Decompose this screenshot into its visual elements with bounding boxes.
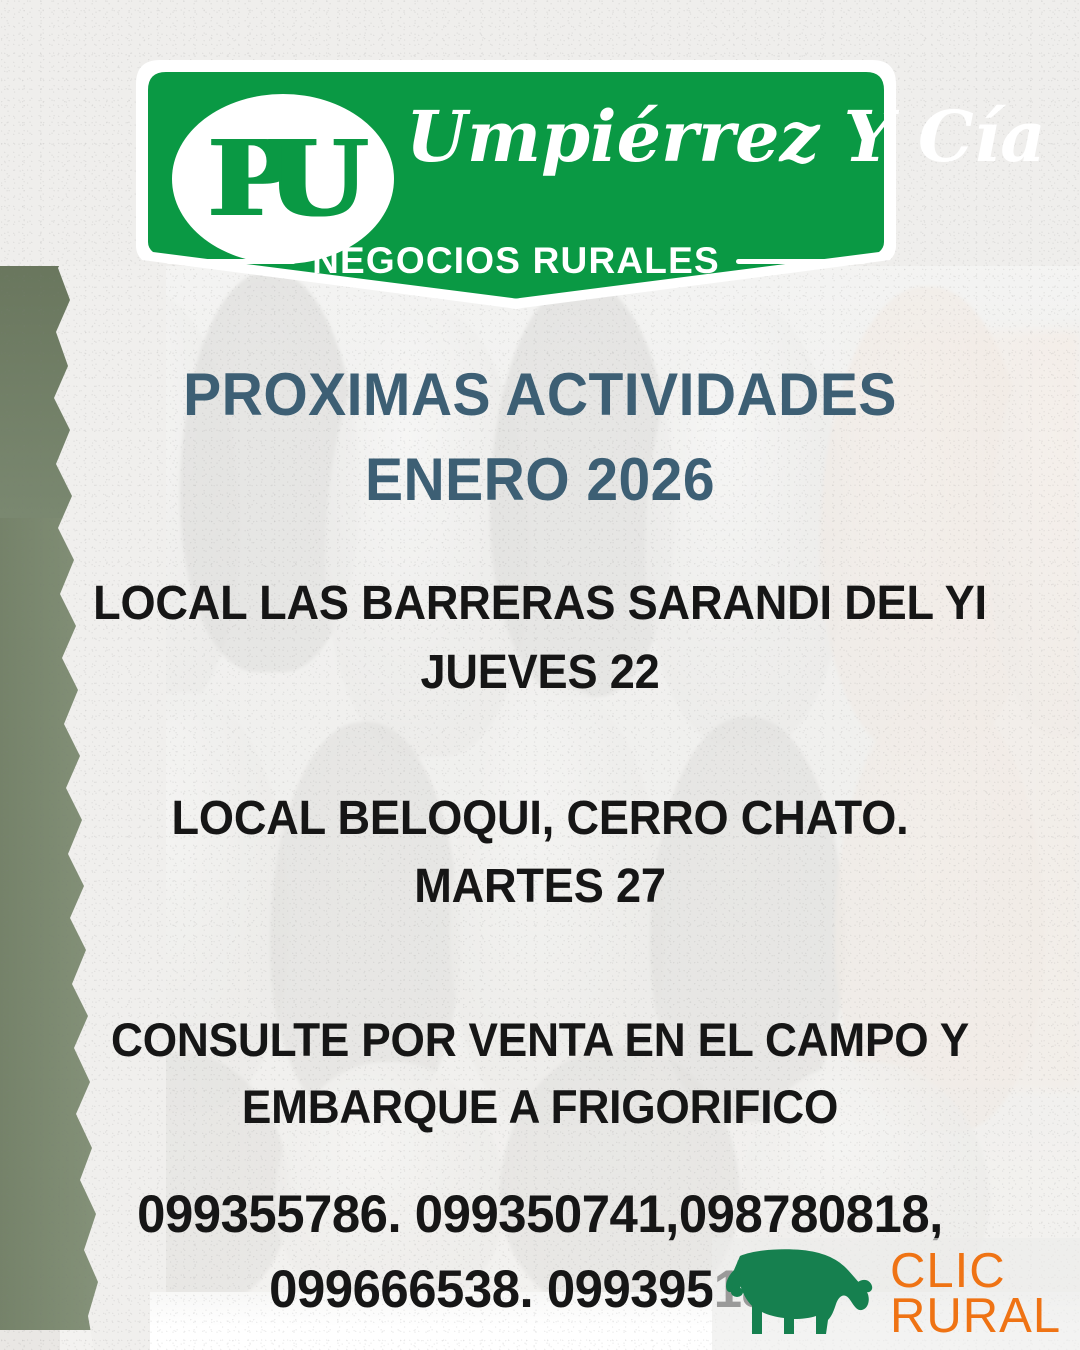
poster-content: PROXIMAS ACTIVIDADES ENERO 2026 LOCAL LA…	[0, 352, 1080, 1327]
clic-rural-watermark: CLIC RURAL	[712, 1238, 1080, 1350]
event-2-location: LOCAL BELOQUI, CERRO CHATO.	[55, 785, 1025, 853]
heading-line-2: ENERO 2026	[65, 437, 1015, 522]
poster-heading: PROXIMAS ACTIVIDADES ENERO 2026	[27, 352, 1053, 522]
event-block-2: LOCAL BELOQUI, CERRO CHATO. MARTES 27	[32, 785, 1047, 921]
event-block-1: LOCAL LAS BARRERAS SARANDI DEL YI JUEVES…	[32, 570, 1047, 706]
company-logo: PU Umpiérrez Y Cía NEGOCIOS RURALES	[110, 58, 922, 310]
poster-canvas: PU Umpiérrez Y Cía NEGOCIOS RURALES PROX…	[0, 0, 1080, 1350]
event-1-location: LOCAL LAS BARRERAS SARANDI DEL YI	[55, 570, 1025, 638]
logo-banner-shape	[110, 58, 922, 310]
event-2-date: MARTES 27	[55, 853, 1025, 921]
watermark-text: CLIC RURAL	[886, 1249, 1080, 1339]
event-1-date: JUEVES 22	[55, 639, 1025, 707]
watermark-line-2: RURAL	[890, 1294, 1080, 1339]
notice-line-2: EMBARQUE A FRIGORIFICO	[55, 1074, 1025, 1141]
watermark-line-1: CLIC	[890, 1249, 1080, 1294]
notice-line-1: CONSULTE POR VENTA EN EL CAMPO Y	[55, 1007, 1025, 1074]
grazing-cow-icon	[718, 1246, 886, 1342]
notice-block: CONSULTE POR VENTA EN EL CAMPO Y EMBARQU…	[32, 1007, 1047, 1140]
heading-line-1: PROXIMAS ACTIVIDADES	[65, 352, 1015, 437]
